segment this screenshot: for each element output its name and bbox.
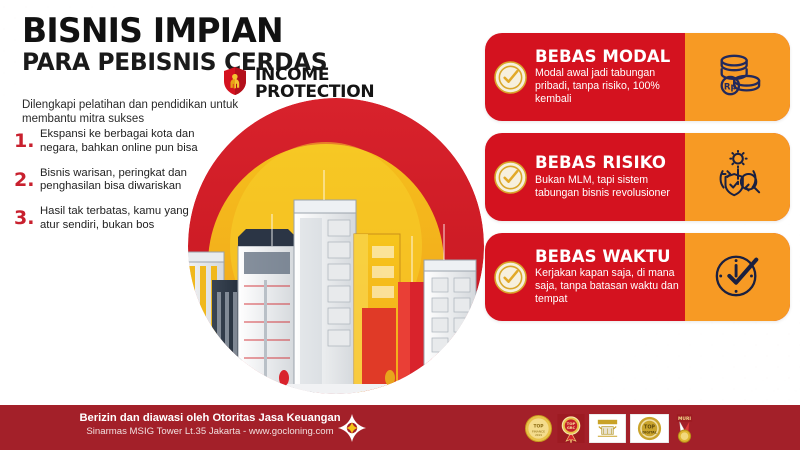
card-content: BEBAS MODAL Modal awal jadi tabungan pri… xyxy=(485,33,685,121)
svg-text:2019: 2019 xyxy=(535,433,542,437)
brand-name-line-2: PROTECTION xyxy=(255,82,374,102)
card-icon-panel xyxy=(685,233,790,321)
top-grc-award-badge: TOP GRC xyxy=(557,414,585,443)
check-circle-badge-icon xyxy=(494,261,527,294)
list-item-label: Ekspansi ke berbagai kota dan negara, ba… xyxy=(40,128,199,156)
muri-record-medal-badge: MURI xyxy=(673,414,696,443)
four-point-star-diamond-icon xyxy=(338,414,366,442)
list-item: 2. Bisnis warisan, peringkat dan penghas… xyxy=(14,167,199,195)
card-title: BEBAS RISIKO xyxy=(535,154,679,171)
card-copy: BEBAS MODAL Modal awal jadi tabungan pri… xyxy=(535,48,679,106)
footer-line-2: Sinarmas MSIG Tower Lt.35 Jakarta - www.… xyxy=(60,426,360,438)
intro-paragraph: Dilengkapi pelatihan dan pendidikan untu… xyxy=(22,98,247,127)
brand-lockup: INCOME PROTECTION xyxy=(222,66,374,101)
top-digital-award-badge: TOP DIGITAL xyxy=(630,414,669,443)
card-copy: BEBAS WAKTU Kerjakan kapan saja, di mana… xyxy=(535,248,679,306)
check-circle-badge-icon xyxy=(494,161,527,194)
card-copy: BEBAS RISIKO Bukan MLM, tapi sistem tabu… xyxy=(535,154,679,199)
clock-check-icon xyxy=(713,250,763,305)
benefit-card-bebas-waktu[interactable]: BEBAS WAKTU Kerjakan kapan saja, di mana… xyxy=(485,233,790,321)
svg-text:MURI: MURI xyxy=(678,416,691,422)
card-icon-panel: Rp xyxy=(685,33,790,121)
card-title: BEBAS WAKTU xyxy=(535,248,679,265)
headline-line-1: BISNIS IMPIAN xyxy=(22,14,327,48)
stacked-coins-rupiah-icon: Rp xyxy=(713,51,763,104)
list-item: 1. Ekspansi ke berbagai kota dan negara,… xyxy=(14,128,199,156)
card-content: BEBAS WAKTU Kerjakan kapan saja, di mana… xyxy=(485,233,685,321)
svg-text:DIGITAL: DIGITAL xyxy=(642,430,656,434)
list-item-number: 2. xyxy=(14,171,34,190)
list-item-number: 1. xyxy=(14,132,34,151)
card-description: Modal awal jadi tabungan pribadi, tanpa … xyxy=(535,67,679,106)
footer-bar: Berizin dan diawasi oleh Otoritas Jasa K… xyxy=(0,405,800,450)
footer-text: Berizin dan diawasi oleh Otoritas Jasa K… xyxy=(60,412,360,438)
list-item-label: Bisnis warisan, peringkat dan penghasila… xyxy=(40,167,199,195)
city-skyline-illustration xyxy=(176,96,496,396)
risk-management-shield-magnifier-icon xyxy=(712,150,764,205)
card-title: BEBAS MODAL xyxy=(535,48,679,65)
numbered-benefits-list: 1. Ekspansi ke berbagai kota dan negara,… xyxy=(14,128,199,244)
list-item-label: Hasil tak terbatas, kamu yang atur sendi… xyxy=(40,205,199,233)
check-circle-badge-icon xyxy=(494,61,527,94)
certificate-award-badge xyxy=(589,414,626,443)
card-description: Bukan MLM, tapi sistem tabungan bisnis r… xyxy=(535,174,679,200)
top-finance-award-badge: TOP FINANCE 2019 xyxy=(524,414,553,443)
list-item: 3. Hasil tak terbatas, kamu yang atur se… xyxy=(14,205,199,233)
shield-person-icon xyxy=(222,66,248,101)
benefit-card-bebas-modal[interactable]: BEBAS MODAL Modal awal jadi tabungan pri… xyxy=(485,33,790,121)
card-content: BEBAS RISIKO Bukan MLM, tapi sistem tabu… xyxy=(485,133,685,221)
benefit-cards: BEBAS MODAL Modal awal jadi tabungan pri… xyxy=(485,33,790,333)
svg-text:Rp: Rp xyxy=(723,82,736,92)
card-icon-panel xyxy=(685,133,790,221)
list-item-number: 3. xyxy=(14,209,34,228)
svg-text:GRC: GRC xyxy=(567,426,576,430)
benefit-card-bebas-risiko[interactable]: BEBAS RISIKO Bukan MLM, tapi sistem tabu… xyxy=(485,133,790,221)
award-badges: TOP FINANCE 2019 TOP GRC xyxy=(524,414,696,443)
brand-name: INCOME PROTECTION xyxy=(255,67,374,99)
footer-line-1: Berizin dan diawasi oleh Otoritas Jasa K… xyxy=(60,412,360,425)
card-description: Kerjakan kapan saja, di mana saja, tanpa… xyxy=(535,267,679,306)
